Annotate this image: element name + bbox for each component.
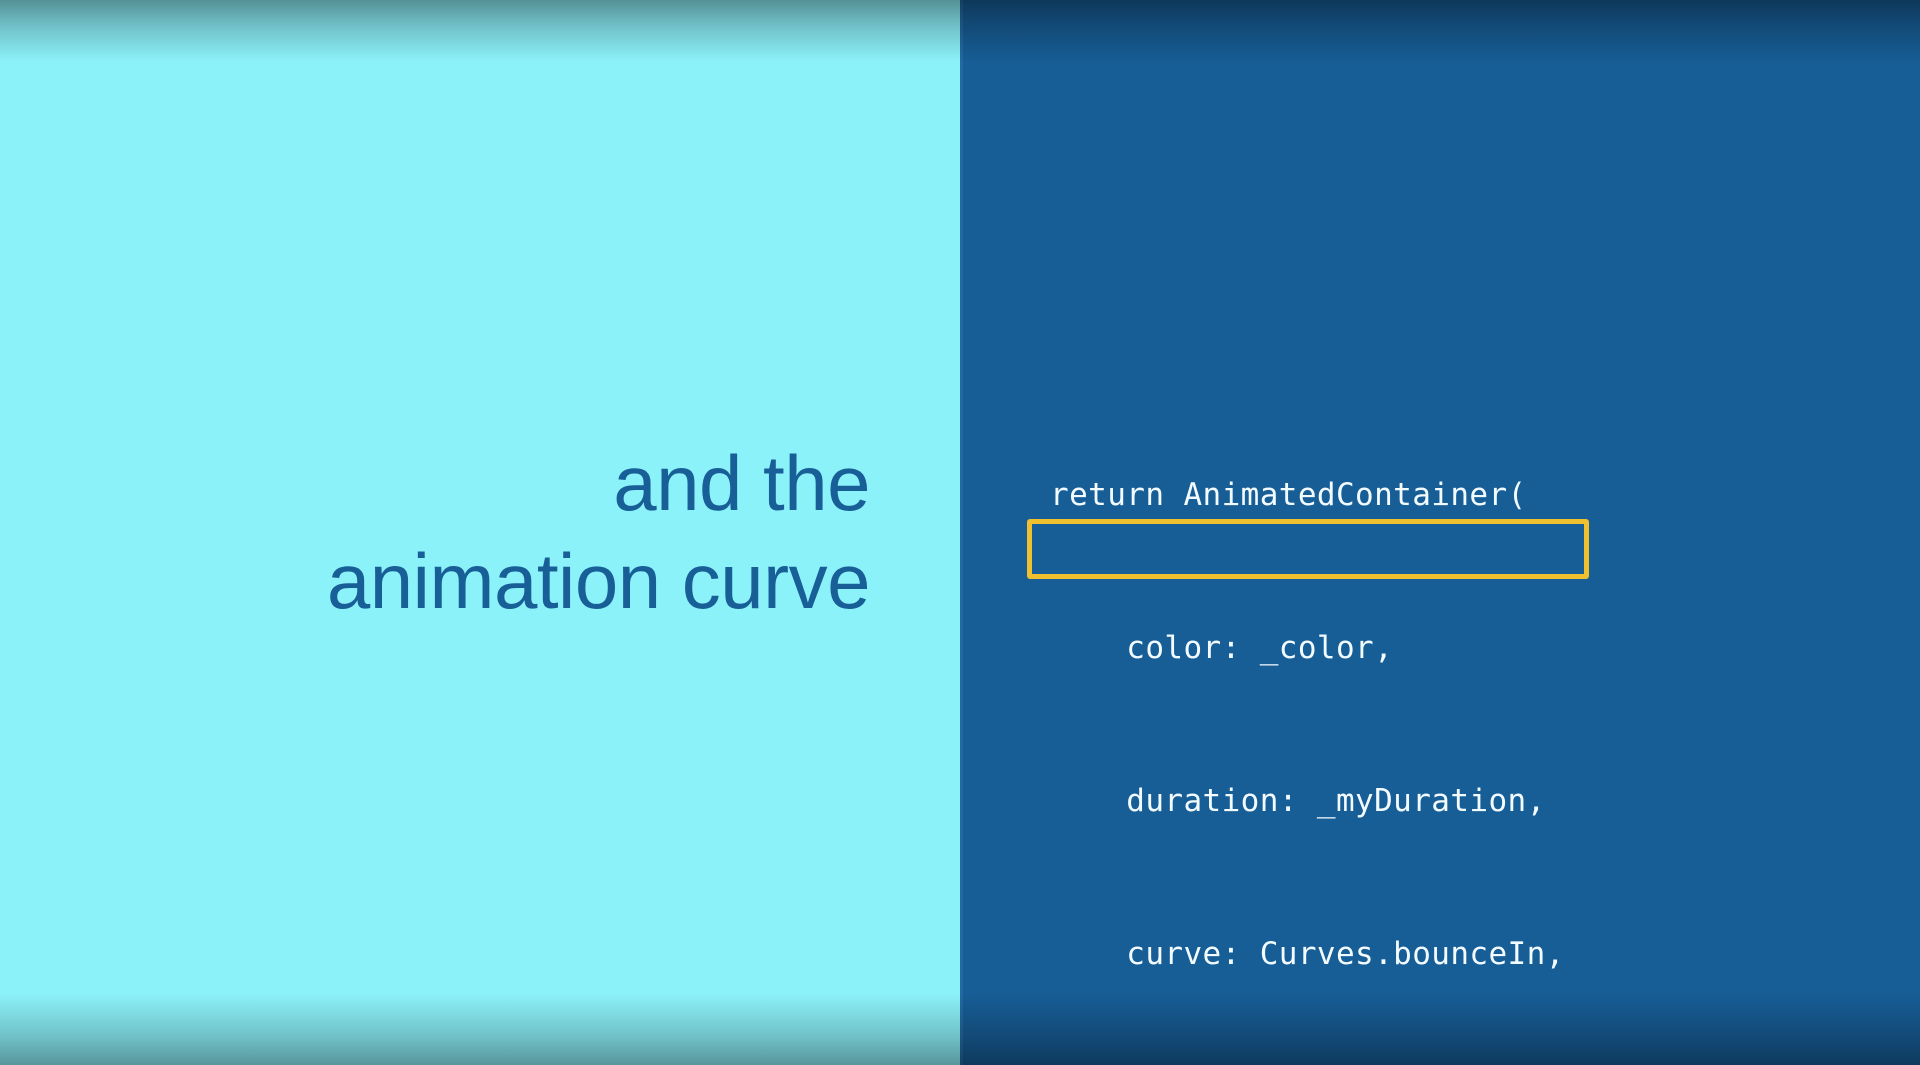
- right-code-panel: return AnimatedContainer( color: _color,…: [960, 0, 1920, 1065]
- code-line-color: color: _color,: [1050, 623, 1603, 674]
- code-line-duration: duration: _myDuration,: [1050, 776, 1603, 827]
- headline-line-1: and the: [327, 435, 870, 533]
- code-line-return: return AnimatedContainer(: [1050, 470, 1603, 521]
- headline-line-2: animation curve: [327, 533, 870, 631]
- code-snippet: return AnimatedContainer( color: _color,…: [1050, 368, 1603, 1065]
- code-line-curve: curve: Curves.bounceIn,: [1050, 929, 1603, 980]
- left-title-panel: and the animation curve: [0, 0, 960, 1065]
- panel-divider: [960, 0, 963, 1065]
- slide-container: and the animation curve return AnimatedC…: [0, 0, 1920, 1065]
- headline-block: and the animation curve: [50, 0, 870, 1065]
- headline-text: and the animation curve: [327, 435, 870, 630]
